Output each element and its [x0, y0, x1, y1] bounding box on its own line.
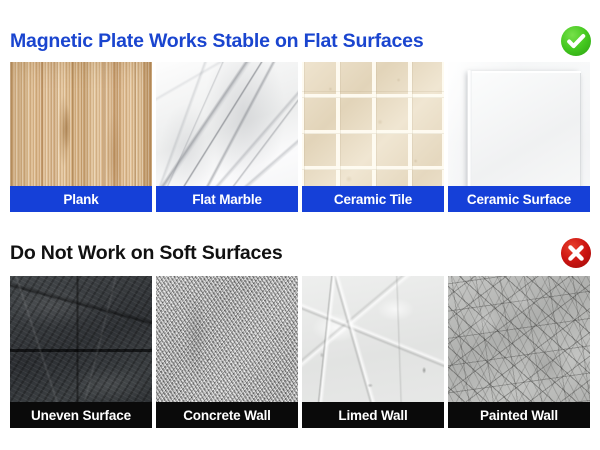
surface-card-limed-wall: Limed Wall [302, 276, 444, 428]
surface-label-uneven-surface: Uneven Surface [10, 402, 152, 428]
surface-compatibility-infographic: Magnetic Plate Works Stable on Flat Surf… [0, 0, 600, 450]
section-header-do-not-work: Do Not Work on Soft Surfaces [10, 236, 592, 270]
surface-card-concrete-wall: Concrete Wall [156, 276, 298, 428]
surface-label-flat-marble: Flat Marble [156, 186, 298, 212]
section-title-do-not-work: Do Not Work on Soft Surfaces [10, 242, 282, 265]
good-surfaces-row: Plank Flat Marble Ceramic Tile Ceramic S… [10, 62, 590, 212]
section-header-works-stable: Magnetic Plate Works Stable on Flat Surf… [10, 24, 592, 58]
surface-card-flat-marble: Flat Marble [156, 62, 298, 212]
surface-label-ceramic-tile: Ceramic Tile [302, 186, 444, 212]
bad-surfaces-row: Uneven Surface Concrete Wall Limed Wall … [10, 276, 590, 428]
surface-card-ceramic-surface: Ceramic Surface [448, 62, 590, 212]
surface-card-painted-wall: Painted Wall [448, 276, 590, 428]
surface-label-painted-wall: Painted Wall [448, 402, 590, 428]
check-circle-icon [560, 25, 592, 57]
surface-card-ceramic-tile: Ceramic Tile [302, 62, 444, 212]
section-title-works-stable: Magnetic Plate Works Stable on Flat Surf… [10, 30, 423, 53]
x-circle-icon [560, 237, 592, 269]
surface-card-plank: Plank [10, 62, 152, 212]
surface-label-concrete-wall: Concrete Wall [156, 402, 298, 428]
surface-label-plank: Plank [10, 186, 152, 212]
surface-label-ceramic-surface: Ceramic Surface [448, 186, 590, 212]
surface-label-limed-wall: Limed Wall [302, 402, 444, 428]
surface-card-uneven-surface: Uneven Surface [10, 276, 152, 428]
